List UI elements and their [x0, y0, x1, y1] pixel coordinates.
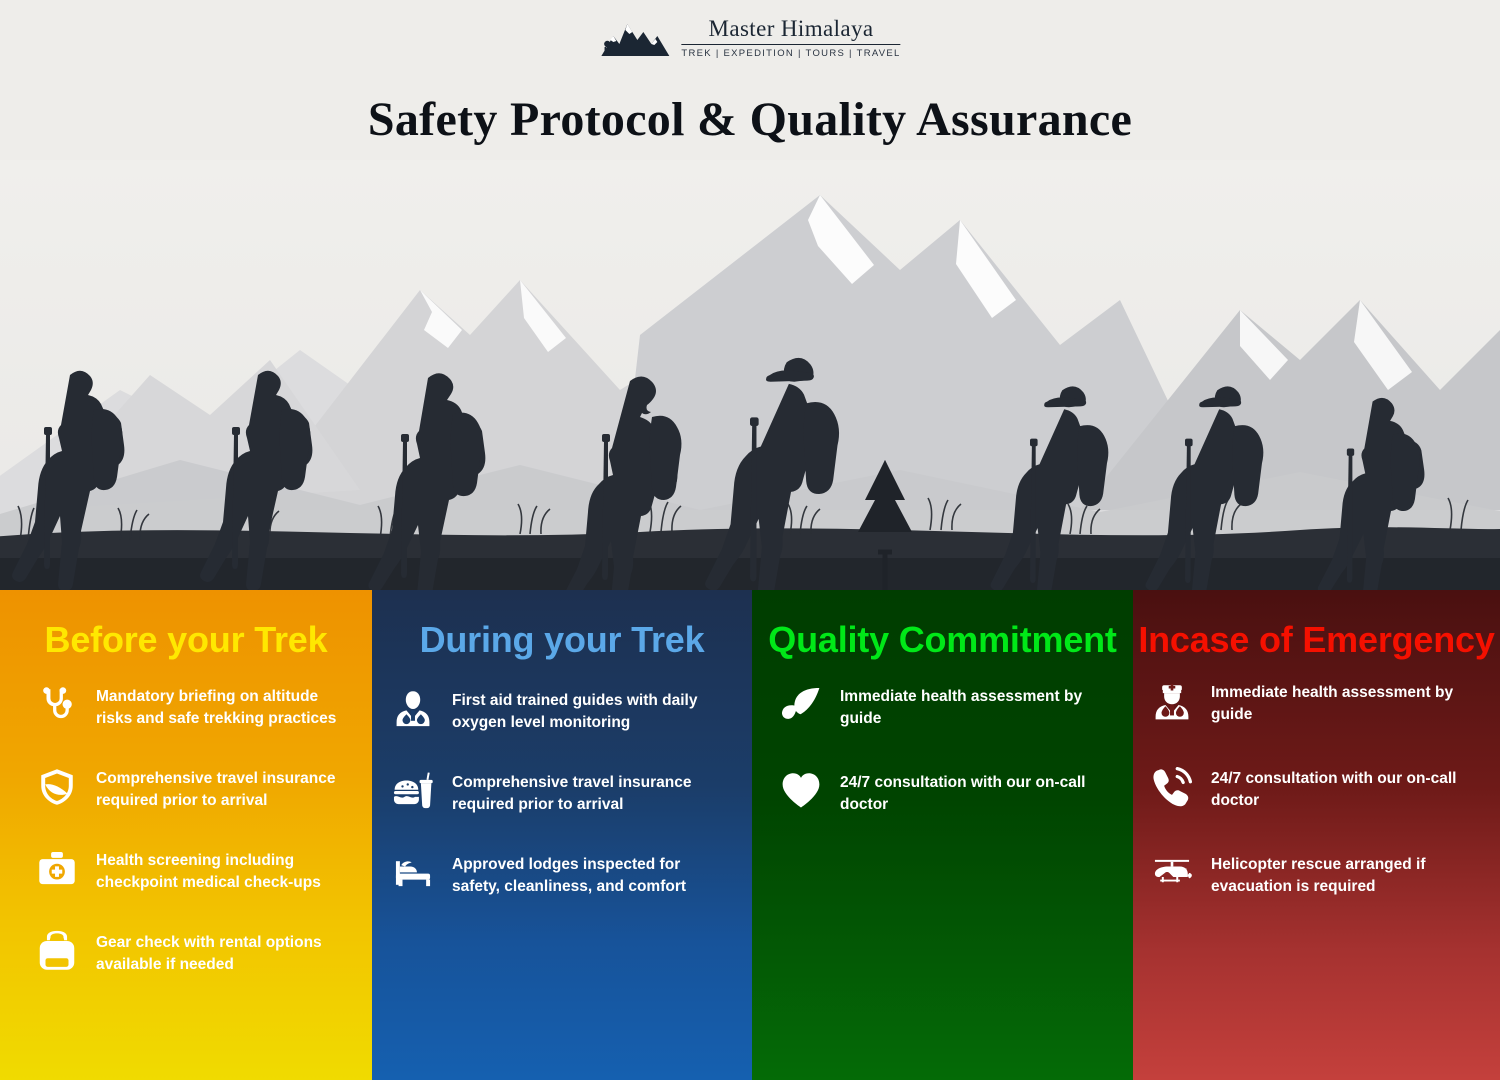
hero-illustration — [0, 160, 1500, 590]
item-list-quality-commitment: Immediate health assessment by guide 24/… — [752, 682, 1133, 854]
list-item-text: Immediate health assessment by guide — [840, 682, 1092, 730]
leaf-icon — [778, 682, 824, 728]
column-heading-before-your-trek: Before your Trek — [0, 620, 372, 660]
list-item[interactable]: Comprehensive travel insurance required … — [390, 768, 730, 816]
list-item-text: Helicopter rescue arranged if evacuation… — [1211, 850, 1469, 898]
list-item[interactable]: 24/7 consultation with our on-call docto… — [778, 768, 1111, 816]
list-item-text: 24/7 consultation with our on-call docto… — [1211, 764, 1469, 812]
helicopter-icon — [1149, 850, 1195, 896]
page-header: Master Himalaya TREK | EXPEDITION | TOUR… — [0, 0, 1500, 160]
backpack-icon — [34, 928, 80, 974]
list-item-text: Health screening including checkpoint me… — [96, 846, 346, 894]
list-item-text: Immediate health assessment by guide — [1211, 678, 1469, 726]
brand-logo-text: Master Himalaya TREK | EXPEDITION | TOUR… — [681, 17, 900, 59]
list-item-text: Comprehensive travel insurance required … — [452, 768, 704, 816]
list-item[interactable]: Immediate health assessment by guide — [1149, 678, 1482, 726]
column-quality-commitment: Quality Commitment Immediate health asse… — [752, 590, 1133, 1080]
list-item[interactable]: Comprehensive travel insurance required … — [34, 764, 346, 812]
phone-call-icon — [1149, 764, 1195, 810]
hero-banner — [0, 160, 1500, 590]
nurse-icon — [1149, 678, 1195, 724]
column-during-your-trek: During your Trek First aid trained guide… — [372, 590, 752, 1080]
heart-icon — [778, 768, 824, 814]
list-item-text: Mandatory briefing on altitude risks and… — [96, 682, 346, 730]
list-item[interactable]: Approved lodges inspected for safety, cl… — [390, 850, 730, 898]
item-list-before-your-trek: Mandatory briefing on altitude risks and… — [0, 682, 372, 1010]
list-item-text: First aid trained guides with daily oxyg… — [452, 686, 704, 734]
brand-name: Master Himalaya — [708, 17, 873, 41]
column-heading-during-your-trek: During your Trek — [372, 620, 752, 660]
brand-tagline: TREK | EXPEDITION | TOURS | TRAVEL — [681, 48, 900, 59]
bed-icon — [390, 850, 436, 896]
page-title: Safety Protocol & Quality Assurance — [0, 92, 1500, 147]
brand-logo[interactable]: Master Himalaya TREK | EXPEDITION | TOUR… — [599, 14, 900, 62]
infographic-page: Master Himalaya TREK | EXPEDITION | TOUR… — [0, 0, 1500, 1080]
food-drink-icon — [390, 768, 436, 814]
medical-kit-icon — [34, 846, 80, 892]
stethoscope-icon — [34, 682, 80, 728]
list-item-text: 24/7 consultation with our on-call docto… — [840, 768, 1092, 816]
info-columns: Before your Trek Mandatory briefing on a… — [0, 590, 1500, 1080]
mountain-logo-icon — [599, 14, 671, 62]
list-item-text: Approved lodges inspected for safety, cl… — [452, 850, 704, 898]
column-heading-quality-commitment: Quality Commitment — [752, 620, 1133, 660]
column-incase-of-emergency: Incase of Emergency Immediate health ass… — [1133, 590, 1500, 1080]
list-item[interactable]: 24/7 consultation with our on-call docto… — [1149, 764, 1482, 812]
list-item[interactable]: Mandatory briefing on altitude risks and… — [34, 682, 346, 730]
shield-icon — [34, 764, 80, 810]
item-list-during-your-trek: First aid trained guides with daily oxyg… — [372, 686, 752, 932]
list-item[interactable]: Gear check with rental options available… — [34, 928, 346, 976]
list-item-text: Comprehensive travel insurance required … — [96, 764, 346, 812]
doctor-icon — [390, 686, 436, 732]
list-item[interactable]: Helicopter rescue arranged if evacuation… — [1149, 850, 1482, 898]
list-item[interactable]: First aid trained guides with daily oxyg… — [390, 686, 730, 734]
list-item[interactable]: Health screening including checkpoint me… — [34, 846, 346, 894]
column-before-your-trek: Before your Trek Mandatory briefing on a… — [0, 590, 372, 1080]
column-heading-incase-of-emergency: Incase of Emergency — [1133, 620, 1500, 660]
item-list-incase-of-emergency: Immediate health assessment by guide 24/… — [1133, 678, 1500, 936]
list-item[interactable]: Immediate health assessment by guide — [778, 682, 1111, 730]
brand-divider — [681, 44, 900, 45]
list-item-text: Gear check with rental options available… — [96, 928, 346, 976]
